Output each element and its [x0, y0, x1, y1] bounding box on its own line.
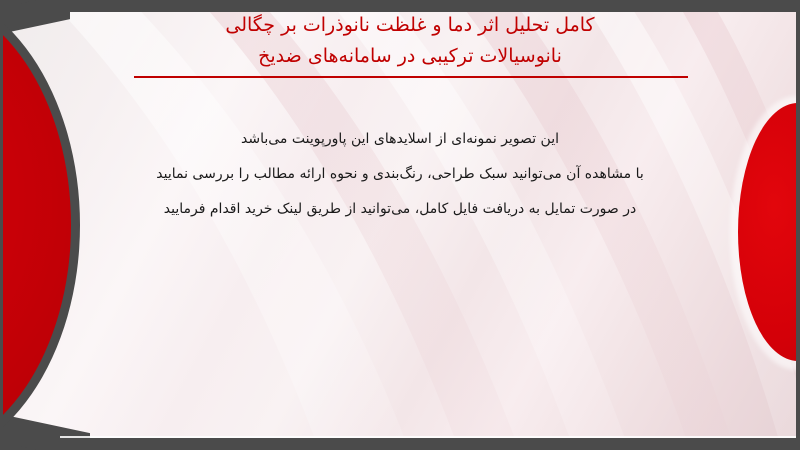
slide-body-line-1: این تصویر نمونه‌ای از اسلایدهای این پاور… — [110, 122, 690, 157]
slide-title-line-2: نانوسیالات ترکیبی در سامانه‌های ضدیخ — [130, 41, 690, 72]
red-ellipse-left — [0, 0, 80, 450]
frame-bottom-band — [0, 438, 800, 450]
slide-body-line-2: با مشاهده آن می‌توانید سبک طراحی، رنگ‌بن… — [110, 157, 690, 192]
frame-left-edge — [0, 0, 3, 450]
frame-right-edge — [796, 0, 800, 450]
panel-bottom-hairline — [60, 436, 800, 438]
slide-body-line-3: در صورت تمایل به دریافت فایل کامل، می‌تو… — [110, 192, 690, 227]
slide-title: کامل تحلیل اثر دما و غلظت نانوذرات بر چگ… — [130, 10, 690, 72]
presentation-slide: کامل تحلیل اثر دما و غلظت نانوذرات بر چگ… — [0, 0, 800, 450]
red-ellipse-left-fill — [0, 0, 80, 450]
slide-body-text: این تصویر نمونه‌ای از اسلایدهای این پاور… — [110, 122, 690, 227]
slide-title-line-1: کامل تحلیل اثر دما و غلظت نانوذرات بر چگ… — [130, 10, 690, 41]
title-underline-rule — [134, 76, 688, 78]
